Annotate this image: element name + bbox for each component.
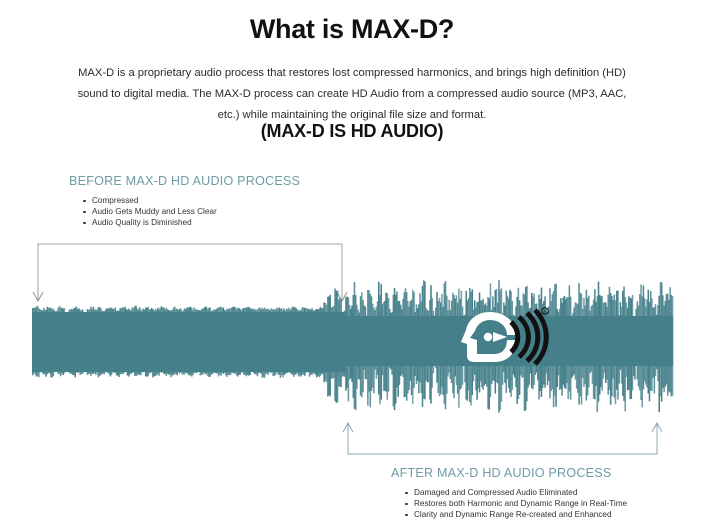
- intro-paragraph: MAX-D is a proprietary audio process tha…: [72, 63, 632, 126]
- list-item: Audio Gets Muddy and Less Clear: [92, 206, 217, 217]
- page-title: What is MAX-D?: [0, 14, 704, 45]
- before-range-bracket: [30, 240, 350, 305]
- list-item: Clarity and Dynamic Range Re-created and…: [414, 509, 627, 520]
- registered-mark: R: [543, 309, 546, 314]
- list-item: Restores both Harmonic and Dynamic Range…: [414, 498, 627, 509]
- soundwave-arc-1: [511, 322, 518, 352]
- list-item: Damaged and Compressed Audio Eliminated: [414, 487, 627, 498]
- emitter-wedge-icon: [493, 332, 507, 342]
- tagline: (MAX-D IS HD AUDIO): [0, 121, 704, 142]
- before-bullet-list: Compressed Audio Gets Muddy and Less Cle…: [78, 195, 217, 228]
- after-bullet-list: Damaged and Compressed Audio Eliminated …: [400, 487, 627, 520]
- before-section-heading: BEFORE MAX-D HD AUDIO PROCESS: [69, 174, 300, 188]
- list-item: Compressed: [92, 195, 217, 206]
- maxd-head-soundwave-icon: R: [459, 306, 551, 368]
- eye-dot-icon: [484, 333, 492, 341]
- after-section-heading: AFTER MAX-D HD AUDIO PROCESS: [391, 466, 611, 480]
- soundwave-arc-2: [519, 317, 528, 357]
- list-item: Audio Quality is Diminished: [92, 217, 217, 228]
- after-range-bracket: [340, 420, 665, 460]
